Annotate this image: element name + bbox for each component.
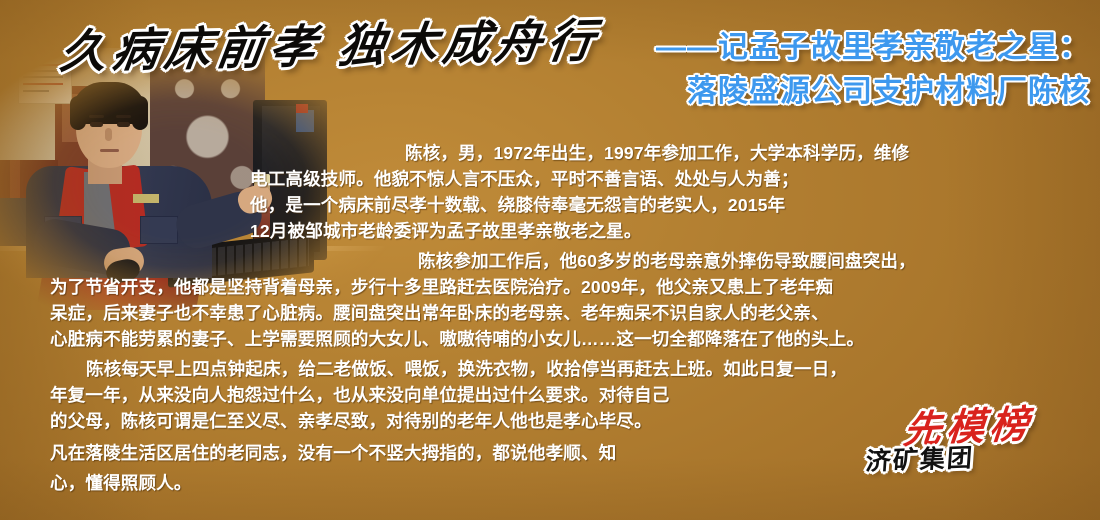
article-line: 年复一年，从来没向人抱怨过什么，也从来没向单位提出过什么要求。对待自己	[50, 382, 670, 407]
headline-subtitle-line2: 落陵盛源公司支护材料厂陈核	[370, 70, 1090, 114]
article-line: 他，是一个病床前尽孝十数载、绕膝侍奉毫无怨言的老实人，2015年	[250, 192, 785, 217]
poster-root: 久病床前孝 独木成舟行 ——记孟子故里孝亲敬老之星： 落陵盛源公司支护材料厂陈核…	[0, 0, 1100, 520]
article-line: 凡在落陵生活区居住的老同志，没有一个不竖大拇指的，都说他孝顺、知	[50, 440, 616, 465]
award-badge-org: 济矿集团	[865, 438, 976, 478]
article-line: 呆症，后来妻子也不幸患了心脏病。腰间盘突出常年卧床的老母亲、老年痴呆不识自家人的…	[50, 300, 829, 325]
article-line: 为了节省开支，他都是坚持背着母亲，步行十多里路赶去医院治疗。2009年，他父亲又…	[50, 274, 833, 299]
article-line: 陈核，男，1972年出生，1997年参加工作，大学本科学历，维修	[405, 140, 909, 165]
award-badge: 先模榜 济矿集团	[866, 396, 1096, 488]
article-line: 陈核参加工作后，他60多岁的老母亲意外摔伤导致腰间盘突出，	[418, 248, 916, 273]
article-line: 心，懂得照顾人。	[50, 470, 192, 495]
article-line: 的父母，陈核可谓是仁至义尽、亲孝尽致，对待别的老年人他也是孝心毕尽。	[50, 408, 652, 433]
article-line: 陈核每天早上四点钟起床，给二老做饭、喂饭，换洗衣物，收拾停当再赶去上班。如此日复…	[86, 356, 847, 381]
article-line: 12月被邹城市老龄委评为孟子故里孝亲敬老之星。	[250, 218, 642, 243]
article-line: 电工高级技师。他貌不惊人言不压众，平时不善言语、处处与人为善；	[250, 166, 799, 191]
headline-subtitle-line1: ——记孟子故里孝亲敬老之星：	[656, 31, 1090, 64]
article-line: 心脏病不能劳累的妻子、上学需要照顾的大女儿、嗷嗷待哺的小女儿……这一切全都降落在…	[50, 326, 864, 351]
headline-subtitle: ——记孟子故里孝亲敬老之星： 落陵盛源公司支护材料厂陈核	[370, 26, 1090, 114]
